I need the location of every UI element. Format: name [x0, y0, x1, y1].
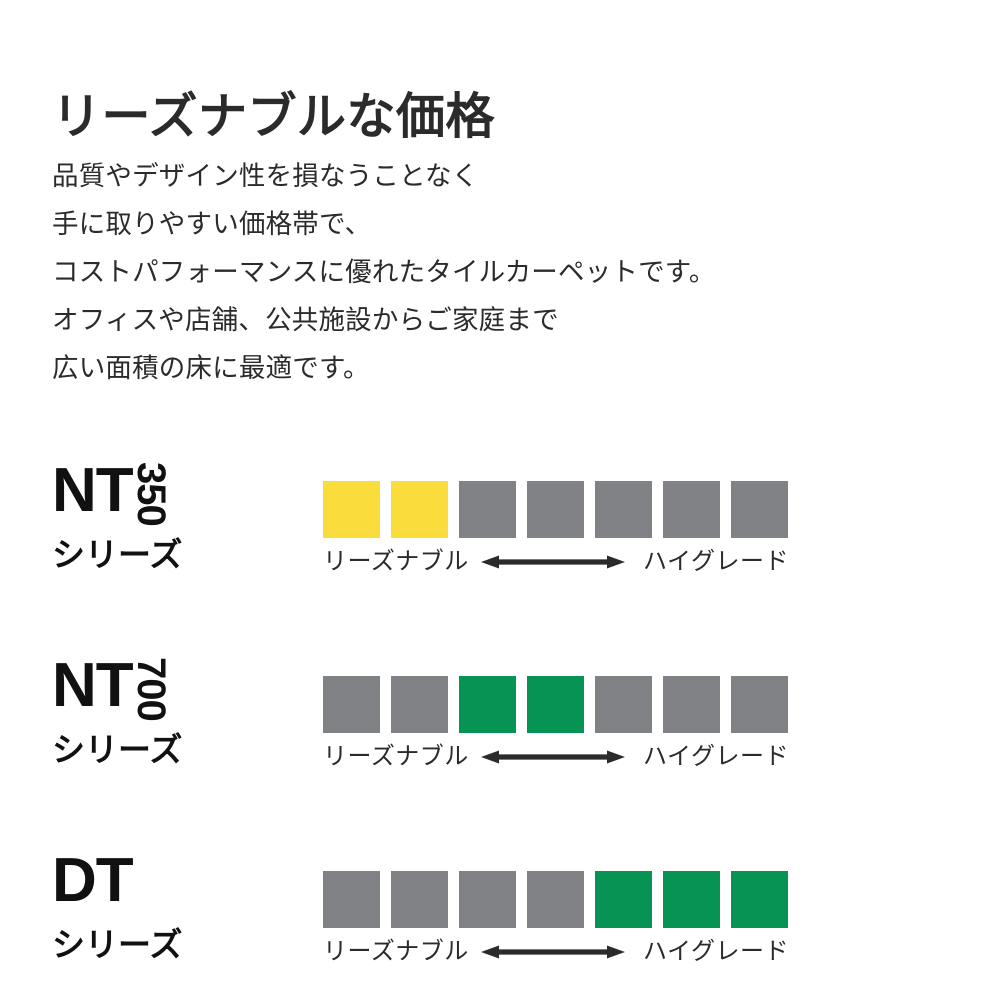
swatch [595, 676, 652, 733]
swatch [595, 481, 652, 538]
description-line: コストパフォーマンスに優れたタイルカーペットです。 [52, 248, 716, 296]
swatch [323, 676, 380, 733]
series-label-dt: DT シリーズ [52, 850, 302, 970]
description-line: 品質やデザイン性を損なうことなく [52, 152, 716, 200]
scale-label-high-grade: ハイグレード [643, 544, 789, 580]
swatch [459, 481, 516, 538]
swatch [527, 676, 584, 733]
grade-scale-swatches [323, 871, 789, 928]
swatch [527, 871, 584, 928]
swatch [731, 871, 788, 928]
swatch [391, 676, 448, 733]
grade-scale-legend: リーズナブル ハイグレード [323, 739, 789, 775]
grade-scale-swatches [323, 676, 789, 733]
scale-label-high-grade: ハイグレード [643, 739, 789, 775]
series-name: NT 350 [52, 460, 196, 524]
series-code: DT [52, 850, 133, 912]
swatch [459, 676, 516, 733]
double-headed-horizontal-arrow-icon [481, 945, 625, 959]
swatch [663, 871, 720, 928]
swatch [663, 676, 720, 733]
swatch [527, 481, 584, 538]
double-headed-horizontal-arrow-icon [481, 555, 625, 569]
scale-label-reasonable: リーズナブル [323, 934, 469, 970]
scale-label-high-grade: ハイグレード [643, 934, 789, 970]
description-paragraph: 品質やデザイン性を損なうことなく 手に取りやすい価格帯で、 コストパフォーマンス… [52, 152, 716, 392]
series-label-nt350: NT 350 シリーズ [52, 460, 302, 580]
grade-scale-swatches [323, 481, 789, 538]
description-line: 手に取りやすい価格帯で、 [52, 200, 716, 248]
scale-label-reasonable: リーズナブル [323, 739, 469, 775]
swatch [391, 871, 448, 928]
series-name: NT 700 [52, 655, 196, 719]
promo-panel: リーズナブルな価格 品質やデザイン性を損なうことなく 手に取りやすい価格帯で、 … [0, 0, 1000, 1000]
grade-scale-legend: リーズナブル ハイグレード [323, 934, 789, 970]
swatch [731, 481, 788, 538]
swatch [663, 481, 720, 538]
series-suffix: シリーズ [52, 528, 182, 576]
swatch [731, 676, 788, 733]
description-line: 広い面積の床に最適です。 [52, 344, 716, 392]
grade-scale-legend: リーズナブル ハイグレード [323, 544, 789, 580]
series-code: NT [52, 655, 133, 717]
swatch [391, 481, 448, 538]
swatch [595, 871, 652, 928]
description-line: オフィスや店舗、公共施設からご家庭まで [52, 296, 716, 344]
series-code: NT [52, 460, 133, 522]
series-grade-number: 700 [131, 657, 171, 721]
swatch [323, 871, 380, 928]
series-grade-number: 350 [131, 462, 171, 526]
page-title: リーズナブルな価格 [52, 91, 495, 144]
scale-label-reasonable: リーズナブル [323, 544, 469, 580]
series-label-nt700: NT 700 シリーズ [52, 655, 302, 775]
series-suffix: シリーズ [52, 723, 182, 771]
swatch [459, 871, 516, 928]
series-suffix: シリーズ [52, 918, 182, 966]
swatch [323, 481, 380, 538]
series-name: DT [52, 850, 133, 914]
double-headed-horizontal-arrow-icon [481, 750, 625, 764]
